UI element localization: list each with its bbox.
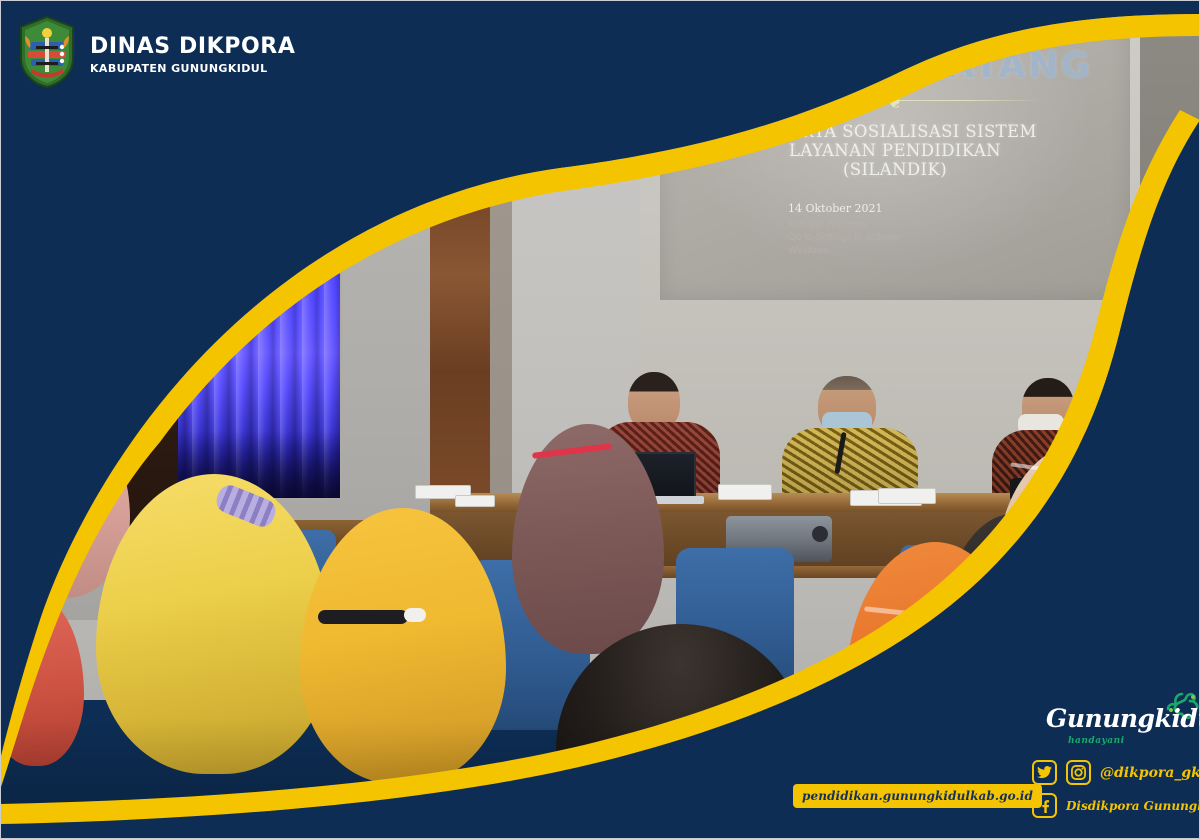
- social-row-twitter-instagram: @dikpora_gk: [1032, 760, 1200, 785]
- website-url: pendidikan.gunungkidulkab.go.id: [802, 789, 1033, 803]
- audience-headband: [318, 610, 408, 624]
- slide-ornament-icon: ❦: [660, 89, 1130, 113]
- poster-canvas: SELAMAT DATANG ❦ PESERTA SOSIALISASI SIS…: [0, 0, 1200, 839]
- website-pill[interactable]: pendidikan.gunungkidulkab.go.id: [793, 784, 1042, 808]
- slide-content: SELAMAT DATANG ❦ PESERTA SOSIALISASI SIS…: [660, 0, 1130, 300]
- gunungkidul-tagline: handayani: [1068, 736, 1125, 746]
- windows-activation-watermark: Activate Windows Go to Settings to activ…: [660, 218, 1130, 257]
- social-links: @dikpora_gk Disdikpora Gunungkidul: [1032, 760, 1200, 826]
- curtain-rod-finial: [345, 103, 361, 123]
- desk-nameplate: [718, 484, 772, 500]
- facebook-handle: Disdikpora Gunungkidul: [1066, 799, 1200, 813]
- header-brand: DINAS DIKPORA KABUPATEN GUNUNGKIDUL: [18, 16, 295, 88]
- brand-title: DINAS DIKPORA: [90, 36, 295, 58]
- slide-date: 14 Oktober 2021: [660, 202, 1130, 215]
- brand-subtitle: KABUPATEN GUNUNGKIDUL: [90, 63, 295, 74]
- desk-nameplate: [455, 495, 495, 507]
- podium-nameplate: [55, 388, 95, 396]
- event-photograph: SELAMAT DATANG ❦ PESERTA SOSIALISASI SIS…: [0, 0, 1200, 839]
- curtain-rod: [58, 108, 353, 117]
- audience-mask-clip: [404, 608, 426, 622]
- gunungkidul-wordmark: Gunungkidul: [1046, 704, 1188, 733]
- twitter-icon[interactable]: [1032, 760, 1057, 785]
- gunungkidul-tourism-logo: Gunungkidul handayani: [1046, 694, 1196, 756]
- slide-subtitle: PESERTA SOSIALISASI SISTEM LAYANAN PENDI…: [660, 122, 1130, 179]
- brand-text: DINAS DIKPORA KABUPATEN GUNUNGKIDUL: [90, 30, 295, 74]
- projector-lens: [812, 526, 828, 542]
- slide-title: SELAMAT DATANG: [660, 46, 1130, 86]
- facebook-icon[interactable]: [1032, 793, 1057, 818]
- desk-nameplate: [878, 488, 936, 504]
- photo-vignette: [0, 719, 1200, 839]
- instagram-handle: @dikpora_gk: [1100, 765, 1200, 781]
- wooden-wall-column: [430, 0, 490, 530]
- social-row-facebook: Disdikpora Gunungkidul: [1032, 793, 1200, 818]
- wall-edge-right: [1140, 0, 1200, 300]
- gunungkidul-regency-crest-icon: [18, 16, 76, 88]
- curtain-top-shadow: [60, 116, 340, 196]
- instagram-icon[interactable]: [1066, 760, 1091, 785]
